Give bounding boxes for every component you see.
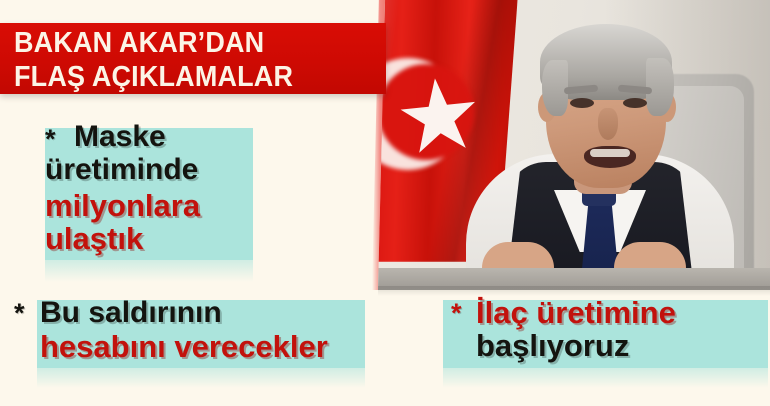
- news-graphic-canvas: BAKAN AKAR’DAN FLAŞ AÇIKLAMALAR * Maske …: [0, 0, 770, 406]
- left-eye: [570, 98, 594, 108]
- right-eye: [623, 98, 647, 108]
- quote-2-highlight-fade: [37, 368, 365, 388]
- quote-1-line-3: milyonlara: [45, 190, 200, 222]
- quote-3-highlight-fade: [443, 368, 768, 388]
- quote-1-line-1: Maske: [74, 122, 166, 153]
- headline-banner: BAKAN AKAR’DAN FLAŞ AÇIKLAMALAR: [0, 23, 386, 94]
- headline-line-2: FLAŞ AÇIKLAMALAR: [14, 58, 349, 92]
- teeth: [590, 149, 630, 157]
- nose: [598, 108, 618, 140]
- quote-1-line-2: üretiminde: [45, 155, 198, 186]
- quote-3-line-2: başlıyoruz: [476, 330, 629, 362]
- quote-2-line-2: hesabını verecekler: [40, 331, 328, 363]
- quote-block-2: * Bu saldırının hesabını verecekler: [0, 292, 440, 402]
- quote-block-1: * Maske üretiminde milyonlara ulaştık: [0, 110, 330, 285]
- quote-3-bullet-asterisk: *: [451, 298, 462, 329]
- speaker-photo: [378, 0, 770, 290]
- quote-1-highlight-fade: [45, 260, 253, 282]
- quote-3-line-1: İlaç üretimine: [476, 297, 676, 329]
- quote-2-line-1: Bu saldırının: [40, 298, 222, 329]
- quote-block-3: * İlaç üretimine başlıyoruz: [430, 292, 770, 402]
- quote-1-bullet-asterisk: *: [45, 124, 56, 155]
- quote-1-line-4: ulaştık: [45, 223, 143, 255]
- headline-line-1: BAKAN AKAR’DAN: [14, 27, 349, 58]
- quote-2-bullet-asterisk: *: [14, 298, 25, 329]
